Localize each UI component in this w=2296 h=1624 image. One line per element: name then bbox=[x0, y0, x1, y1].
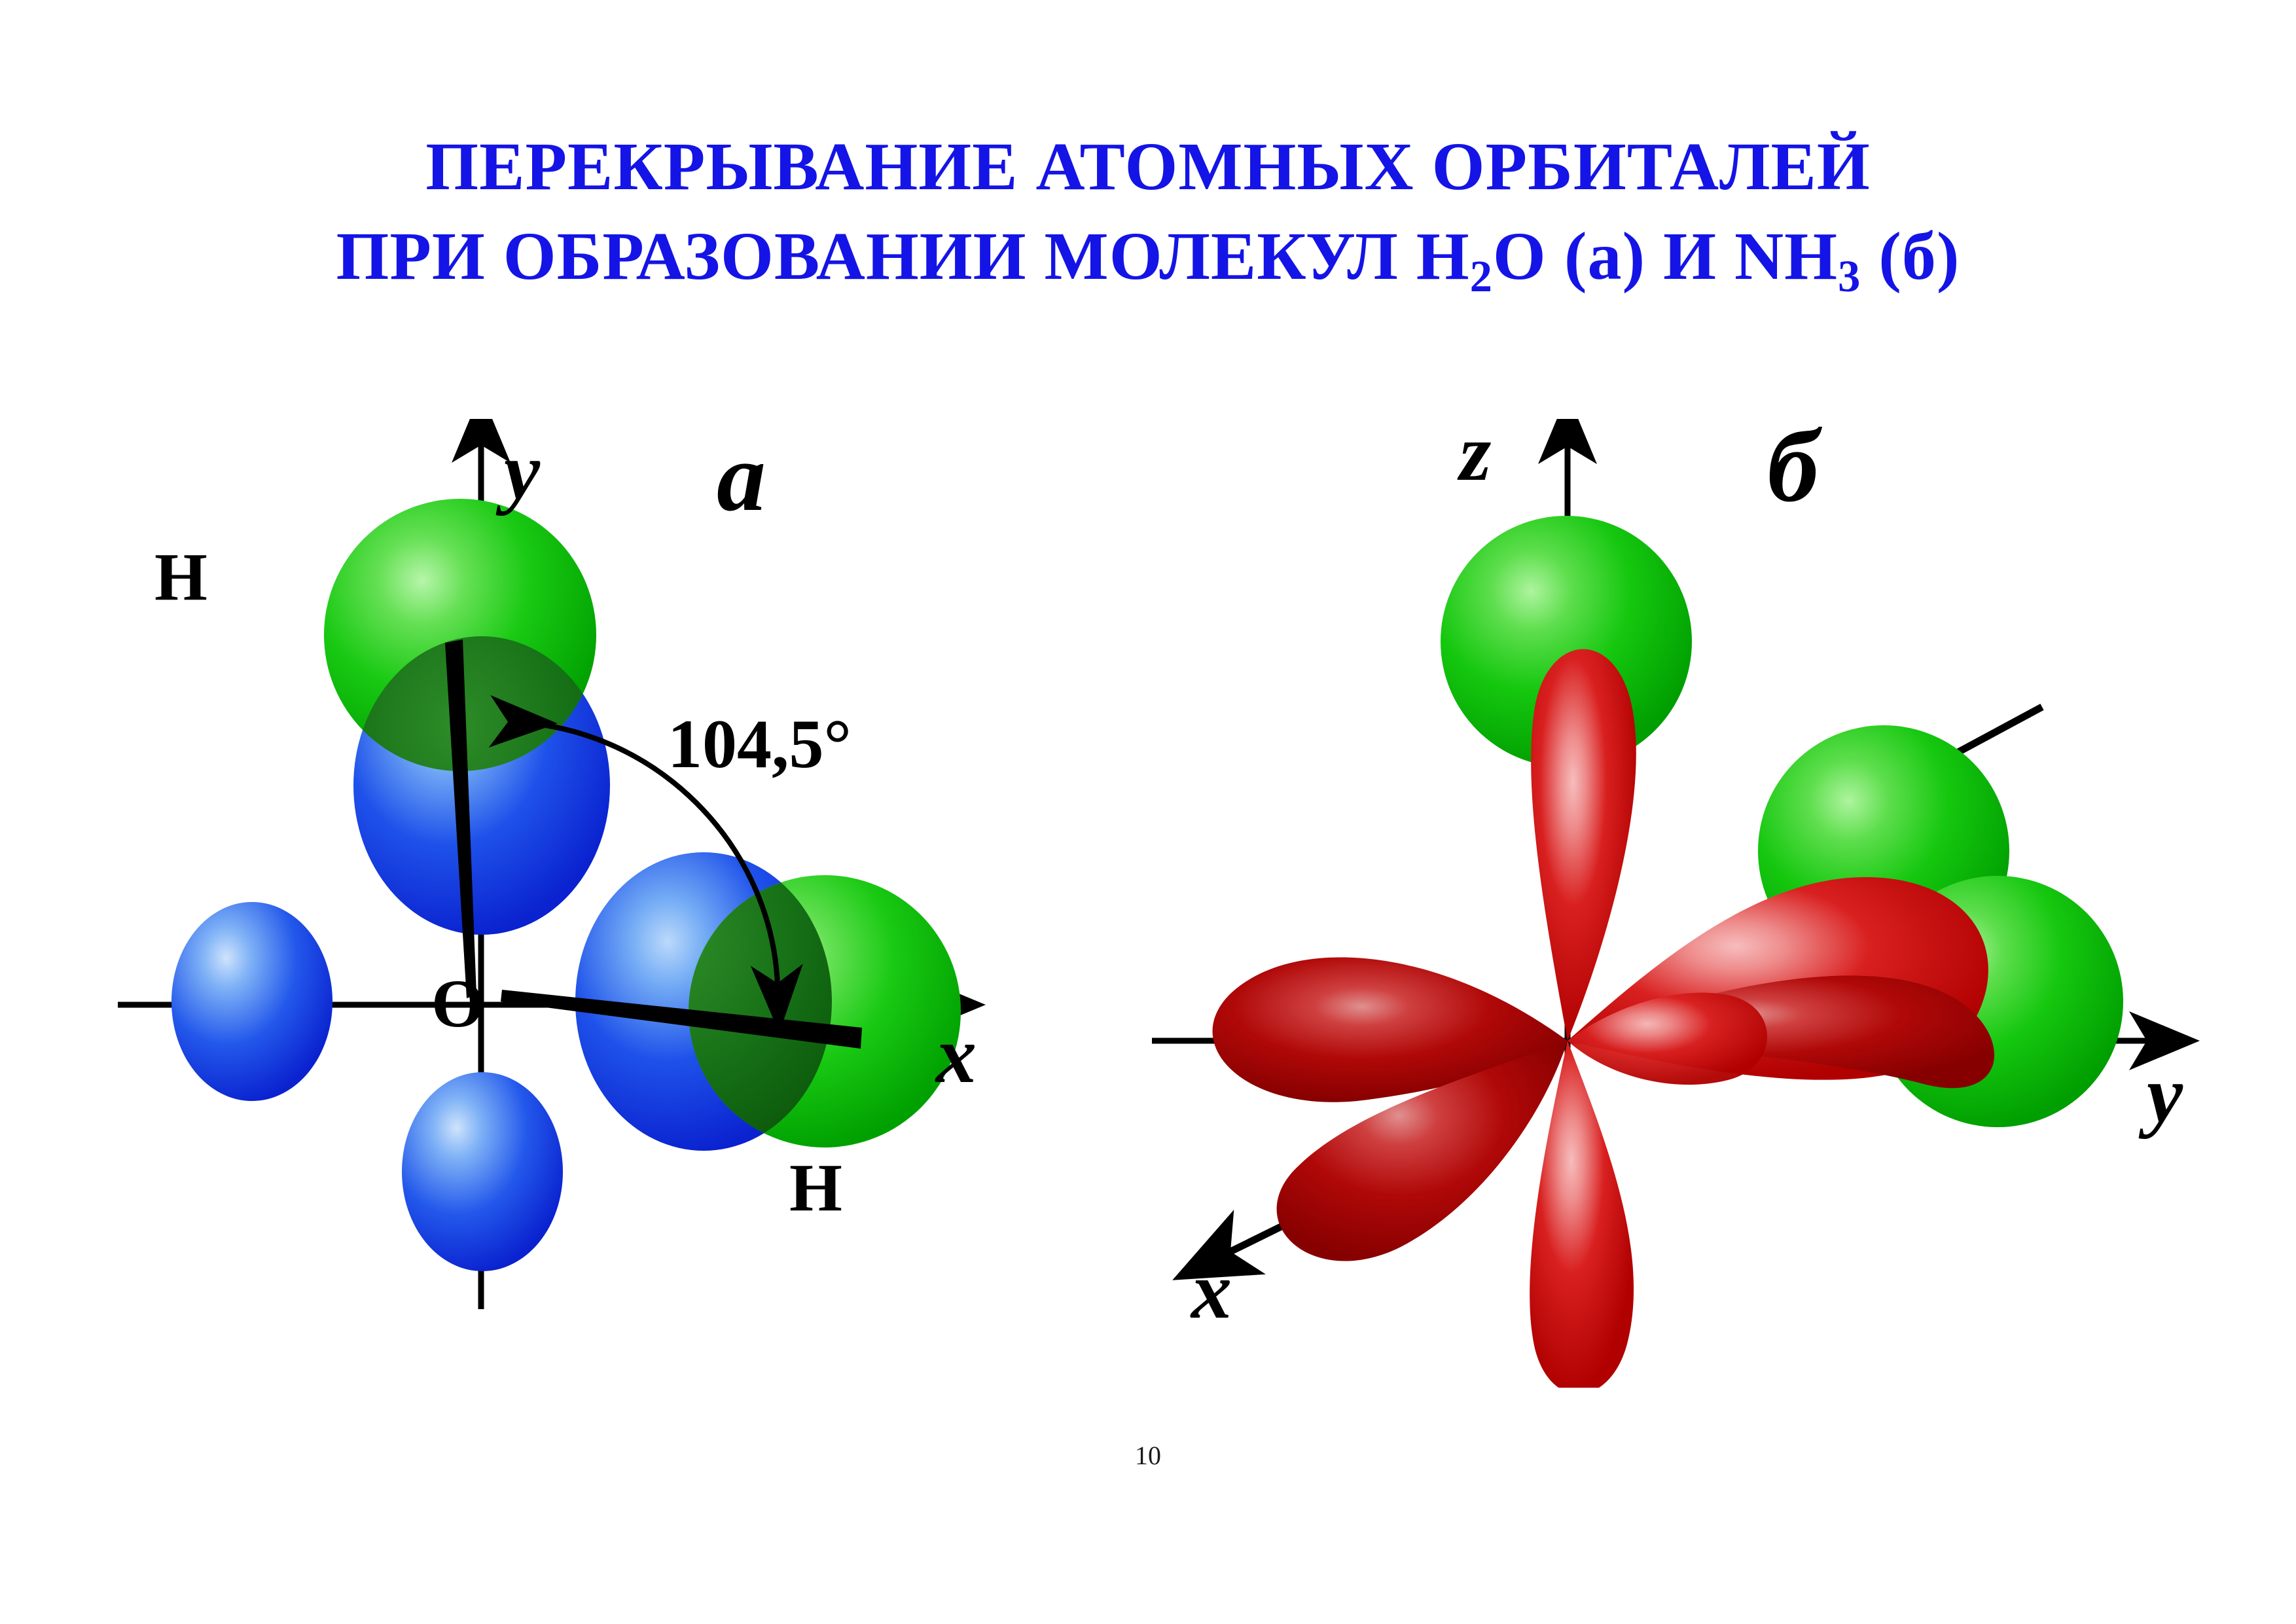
label-oxygen-center: O bbox=[431, 970, 484, 1038]
label-hydrogen-right: Н bbox=[789, 1154, 842, 1222]
n-p-lobe-plus-z bbox=[1531, 649, 1636, 1041]
label-bond-angle: 104,5° bbox=[668, 710, 852, 779]
n-p-lobe-front bbox=[1568, 992, 1767, 1085]
oxygen-p-lobe-left bbox=[171, 902, 332, 1101]
page-title-subscript-3: 3 bbox=[1838, 251, 1861, 301]
figure-h2o-orbital-overlap: Н O Н y x 104,5° а bbox=[118, 419, 1139, 1388]
label-axis-y: y bbox=[2147, 1054, 2183, 1135]
page-title: ПЕРЕКРЫВАНИЕ АТОМНЫХ ОРБИТАЛЕЙ ПРИ ОБРАЗ… bbox=[0, 122, 2296, 302]
label-panel-b: б bbox=[1767, 415, 1819, 518]
page-title-line-2-part-b: О (а) И NH bbox=[1493, 219, 1838, 294]
figure-nh3-svg bbox=[1152, 419, 2238, 1388]
nh3-bond-stub bbox=[1957, 707, 2042, 753]
page-title-line-1: ПЕРЕКРЫВАНИЕ АТОМНЫХ ОРБИТАЛЕЙ bbox=[0, 122, 2296, 211]
label-axis-z: z bbox=[1460, 412, 1491, 494]
page-title-line-2-part-a: ПРИ ОБРАЗОВАНИИ МОЛЕКУЛ Н bbox=[336, 219, 1469, 294]
label-hydrogen-top: Н bbox=[154, 543, 207, 611]
label-axis-x: x bbox=[936, 1015, 977, 1096]
label-axis-y: y bbox=[504, 431, 540, 512]
page-title-line-2-part-c: (б) bbox=[1861, 219, 1960, 294]
label-panel-a: а bbox=[717, 428, 766, 526]
page-title-line-2: ПРИ ОБРАЗОВАНИИ МОЛЕКУЛ Н2О (а) И NH3 (б… bbox=[0, 211, 2296, 301]
figure-nh3-orbital-overlap: z y x б bbox=[1152, 419, 2238, 1388]
figure-h2o-svg bbox=[118, 419, 1139, 1388]
page-title-subscript-2: 2 bbox=[1470, 251, 1493, 301]
page-number: 10 bbox=[0, 1440, 2296, 1471]
oxygen-p-lobe-bottom bbox=[402, 1072, 563, 1271]
label-axis-x: x bbox=[1191, 1250, 1232, 1331]
